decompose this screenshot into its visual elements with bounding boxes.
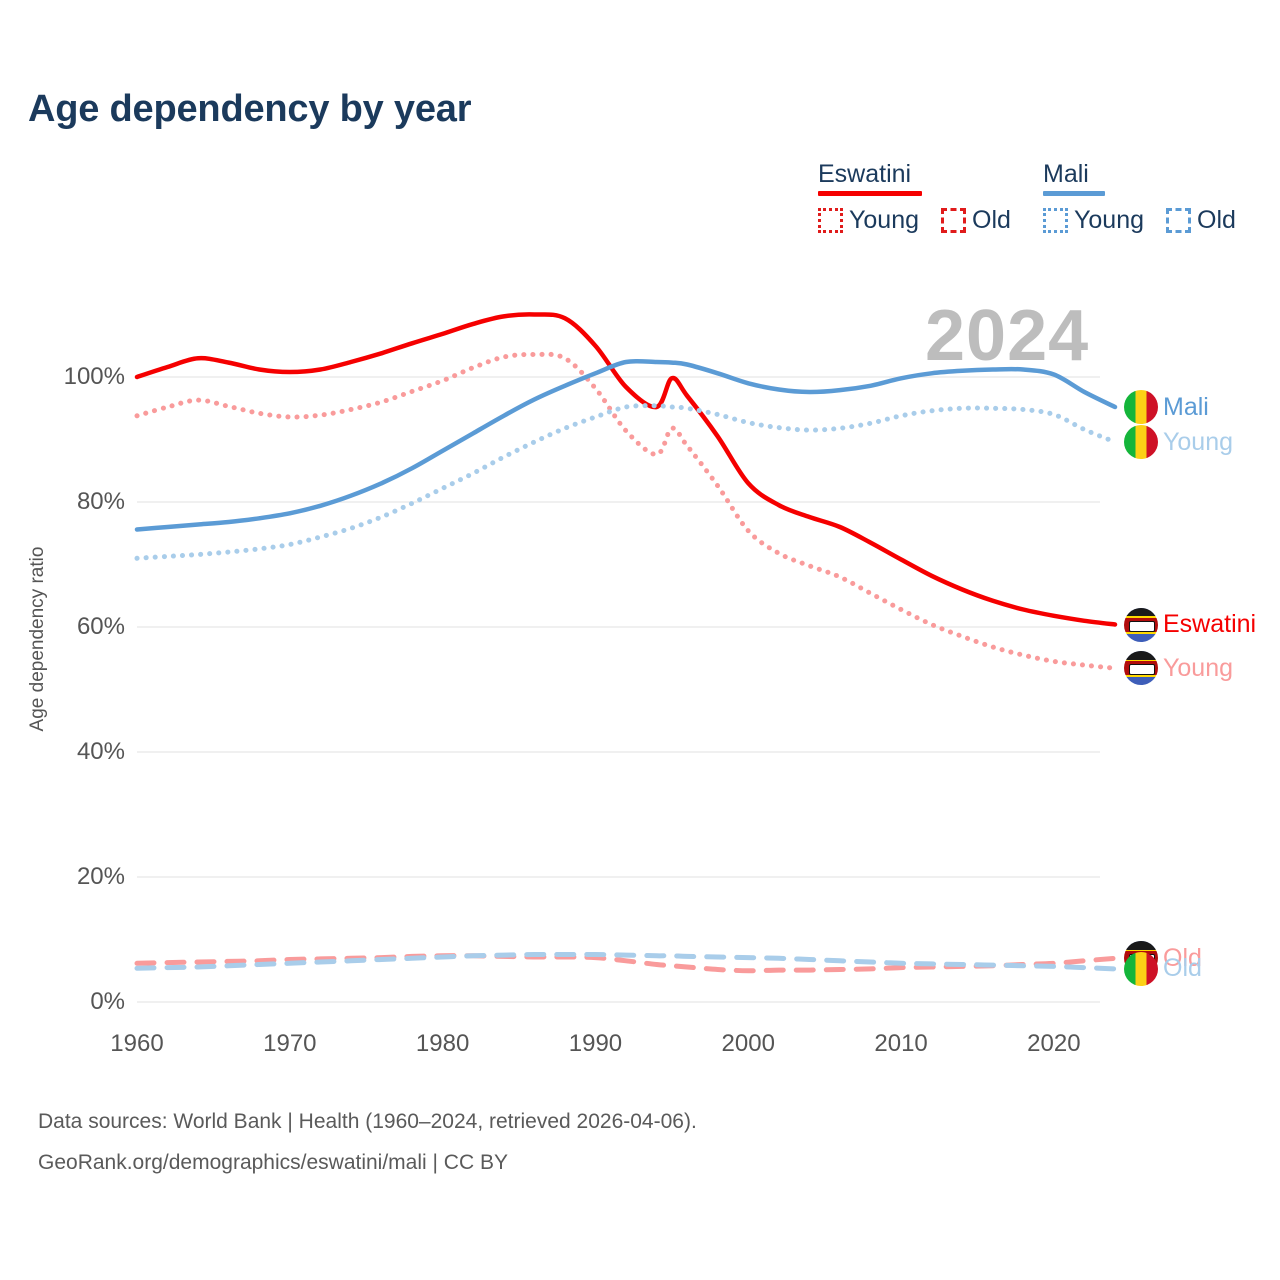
- end-label-mali-young[interactable]: Young: [1124, 425, 1233, 459]
- mali-flag-icon: [1124, 390, 1158, 424]
- x-tick-label: 2000: [722, 1030, 775, 1058]
- y-tick-label: 60%: [15, 613, 125, 641]
- x-tick-label: 1970: [263, 1030, 316, 1058]
- y-tick-label: 0%: [15, 988, 125, 1016]
- end-label-eswatini-total[interactable]: Eswatini: [1124, 608, 1256, 642]
- gridlines: [137, 377, 1100, 1002]
- end-label-text: Old: [1163, 954, 1202, 983]
- series-line-eswatini-old: [137, 956, 1115, 971]
- footer-line-1: Data sources: World Bank | Health (1960–…: [38, 1110, 697, 1134]
- chart-page: Age dependency by year Eswatini Young Ol…: [0, 0, 1280, 1280]
- end-label-mali-total[interactable]: Mali: [1124, 390, 1209, 424]
- x-tick-label: 2020: [1027, 1030, 1080, 1058]
- end-label-eswatini-young[interactable]: Young: [1124, 651, 1233, 685]
- x-tick-label: 2010: [874, 1030, 927, 1058]
- y-tick-label: 100%: [15, 363, 125, 391]
- footer-line-2: GeoRank.org/demographics/eswatini/mali |…: [38, 1151, 508, 1175]
- end-label-text: Mali: [1163, 393, 1209, 422]
- end-label-text: Eswatini: [1163, 610, 1256, 639]
- series-line-eswatini-young: [137, 354, 1115, 668]
- x-tick-label: 1990: [569, 1030, 622, 1058]
- eswatini-flag-icon: [1124, 608, 1158, 642]
- plot-area: [0, 0, 1280, 1280]
- end-label-mali-old[interactable]: Old: [1124, 952, 1202, 986]
- end-label-text: Young: [1163, 654, 1233, 683]
- x-tick-label: 1980: [416, 1030, 469, 1058]
- y-tick-label: 20%: [15, 863, 125, 891]
- eswatini-flag-icon: [1124, 651, 1158, 685]
- mali-flag-icon: [1124, 425, 1158, 459]
- y-tick-label: 80%: [15, 488, 125, 516]
- y-tick-label: 40%: [15, 738, 125, 766]
- end-label-text: Young: [1163, 428, 1233, 457]
- x-tick-label: 1960: [110, 1030, 163, 1058]
- series-lines: [137, 314, 1115, 970]
- mali-flag-icon: [1124, 952, 1158, 986]
